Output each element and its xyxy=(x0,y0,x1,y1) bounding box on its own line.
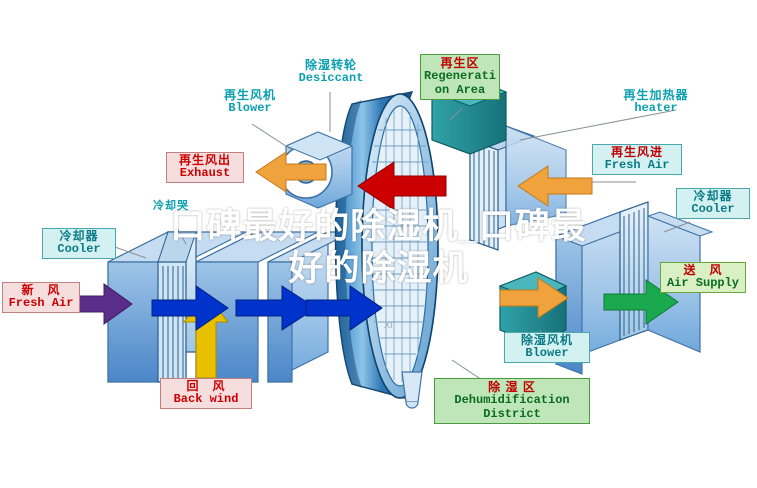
label-air-supply: 送 风 Air Supply xyxy=(660,262,746,293)
label-desiccant-wheel: 除湿转轮 Desiccant xyxy=(288,58,374,87)
label-regeneration-blower: 再生风机 Blower xyxy=(206,88,294,117)
label-cooler-left: 冷却器 Cooler xyxy=(42,228,116,259)
label-regeneration-heater: 再生加热器 heater xyxy=(606,88,706,117)
label-regeneration-fresh-air: 再生风进 Fresh Air xyxy=(592,144,682,175)
label-back-wind: 回 风 Back wind xyxy=(160,378,252,409)
diagram-canvas: XI 除湿转轮 Desiccant 再生风机 Blower 再生区 Regene… xyxy=(0,0,757,488)
label-regeneration-exhaust: 再生风出 Exhaust xyxy=(166,152,244,183)
label-regeneration-area: 再生区 Regenerati on Area xyxy=(420,54,500,100)
rotor-drain-spout xyxy=(402,372,422,408)
label-cooling-water: 冷却哭 xyxy=(140,200,202,212)
label-dehumidification-blower: 除湿风机 Blower xyxy=(504,332,590,363)
label-cooler-right: 冷却器 Cooler xyxy=(676,188,750,219)
label-fresh-air: 新 风 Fresh Air xyxy=(2,282,80,313)
label-dehumidification-district: 除 湿 区 Dehumidification District xyxy=(434,378,590,424)
desiccant-rotor xyxy=(336,92,439,400)
rotor-small-text: XI xyxy=(384,320,393,330)
